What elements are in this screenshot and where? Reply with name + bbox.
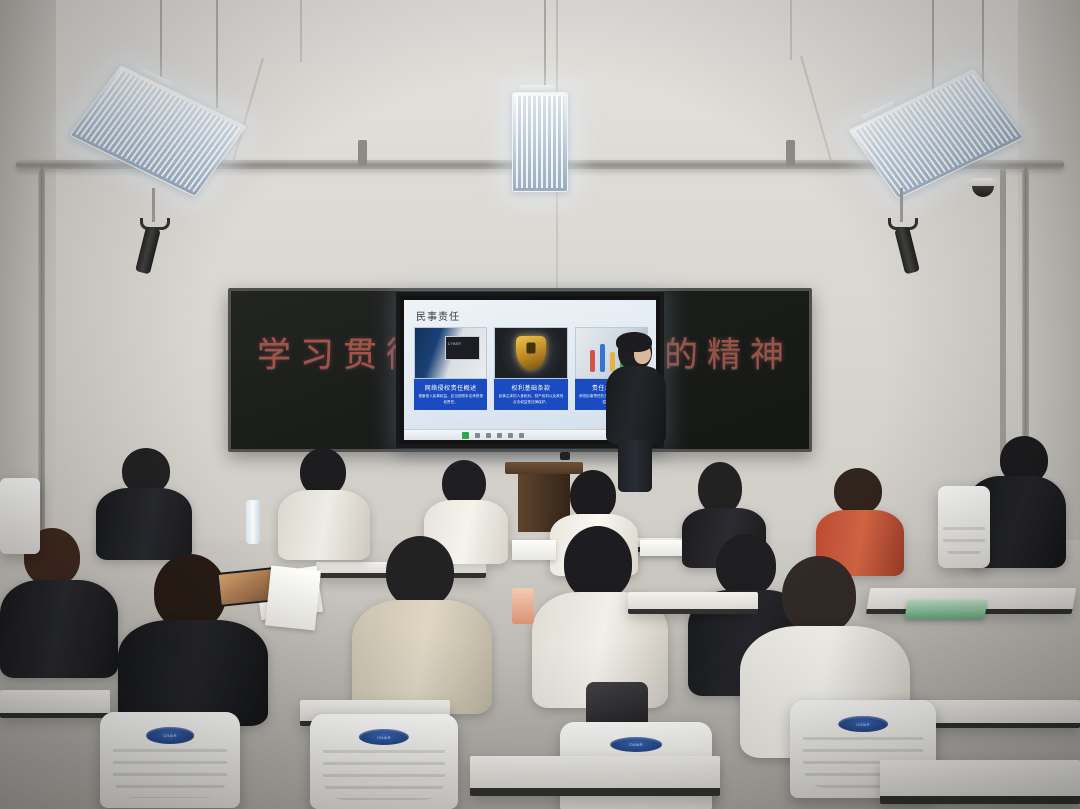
light-wire-1b	[216, 0, 218, 108]
slide-title: 民事责任	[416, 308, 460, 323]
student-row2-3	[352, 536, 492, 712]
slide-card: 网络侵权责任概述 侵害他人民事权益，应当依照本法承担侵权责任。	[414, 327, 487, 410]
open-notebook-center	[512, 540, 556, 560]
app-icon[interactable]	[497, 433, 502, 438]
ceiling-seam-left	[300, 0, 302, 62]
light-wire-2	[544, 0, 546, 96]
pipe-clamp-2	[786, 140, 795, 166]
desk-front-left	[0, 690, 110, 718]
chair-front-1[interactable]: CHAIR	[100, 712, 240, 808]
chair-logo-text: CHAIR	[359, 729, 409, 745]
app-icon[interactable]	[486, 433, 491, 438]
desk-microphone	[560, 452, 570, 460]
slide-card-caption: 权利基础条款 民事主体的人身权利、财产权利以及其他合法权益受法律保护。	[494, 379, 567, 410]
ceiling-seam-right	[790, 0, 792, 60]
slide-card-heading: 网络侵权责任概述	[417, 383, 484, 392]
chair-logo: CHAIR	[146, 727, 194, 743]
chair-logo-text: CHAIR	[146, 727, 194, 743]
app-icon[interactable]	[519, 433, 524, 438]
pipe-clamp-1	[358, 140, 367, 166]
chair-side-left[interactable]	[0, 478, 40, 554]
slide-card-caption: 网络侵权责任概述 侵害他人民事权益，应当依照本法承担侵权责任。	[414, 379, 487, 410]
desk-foreground	[470, 756, 720, 796]
chair-logo: CHAIR	[838, 716, 888, 733]
gold-shield-lock-image	[494, 327, 567, 379]
desk-front-right	[628, 592, 758, 614]
slide-card: 权利基础条款 民事主体的人身权利、财产权利以及其他合法权益受法律保护。	[494, 327, 567, 410]
cyber-security-monitor-image	[414, 327, 487, 379]
slide-card-body: 民事主体的人身权利、财产权利以及其他合法权益受法律保护。	[497, 394, 564, 405]
open-notebook-right	[640, 540, 682, 556]
chair-side-right[interactable]	[938, 486, 990, 568]
chair-front-2[interactable]: CHAIR	[310, 714, 458, 809]
light-wire-3	[932, 0, 934, 100]
slide-card-heading: 权利基础条款	[497, 383, 564, 392]
water-bottle	[246, 500, 260, 544]
chair-logo: CHAIR	[610, 737, 662, 753]
app-icon[interactable]	[475, 433, 480, 438]
chair-logo-text: CHAIR	[610, 737, 662, 753]
conduit-drop-right	[1000, 168, 1006, 468]
green-book	[904, 600, 987, 619]
slide-card-body: 侵害他人民事权益，应当依照本法承担侵权责任。	[417, 394, 484, 405]
drink-cup	[512, 588, 534, 624]
presenter	[604, 332, 668, 490]
ceiling-panel-light-center	[512, 92, 568, 192]
app-icon[interactable]	[508, 433, 513, 438]
wechat-icon[interactable]	[462, 432, 469, 439]
dome-security-camera	[968, 178, 998, 194]
chair-logo: CHAIR	[359, 729, 409, 745]
chair-logo-text: CHAIR	[838, 716, 888, 733]
desk-foreground-right	[880, 760, 1080, 804]
classroom-photo: 学习贯彻 党的精神 民事责任 网络侵权责任概述 侵害他人民事权益，应当依照本法承…	[0, 0, 1080, 809]
paper-sheet-left	[265, 566, 321, 631]
